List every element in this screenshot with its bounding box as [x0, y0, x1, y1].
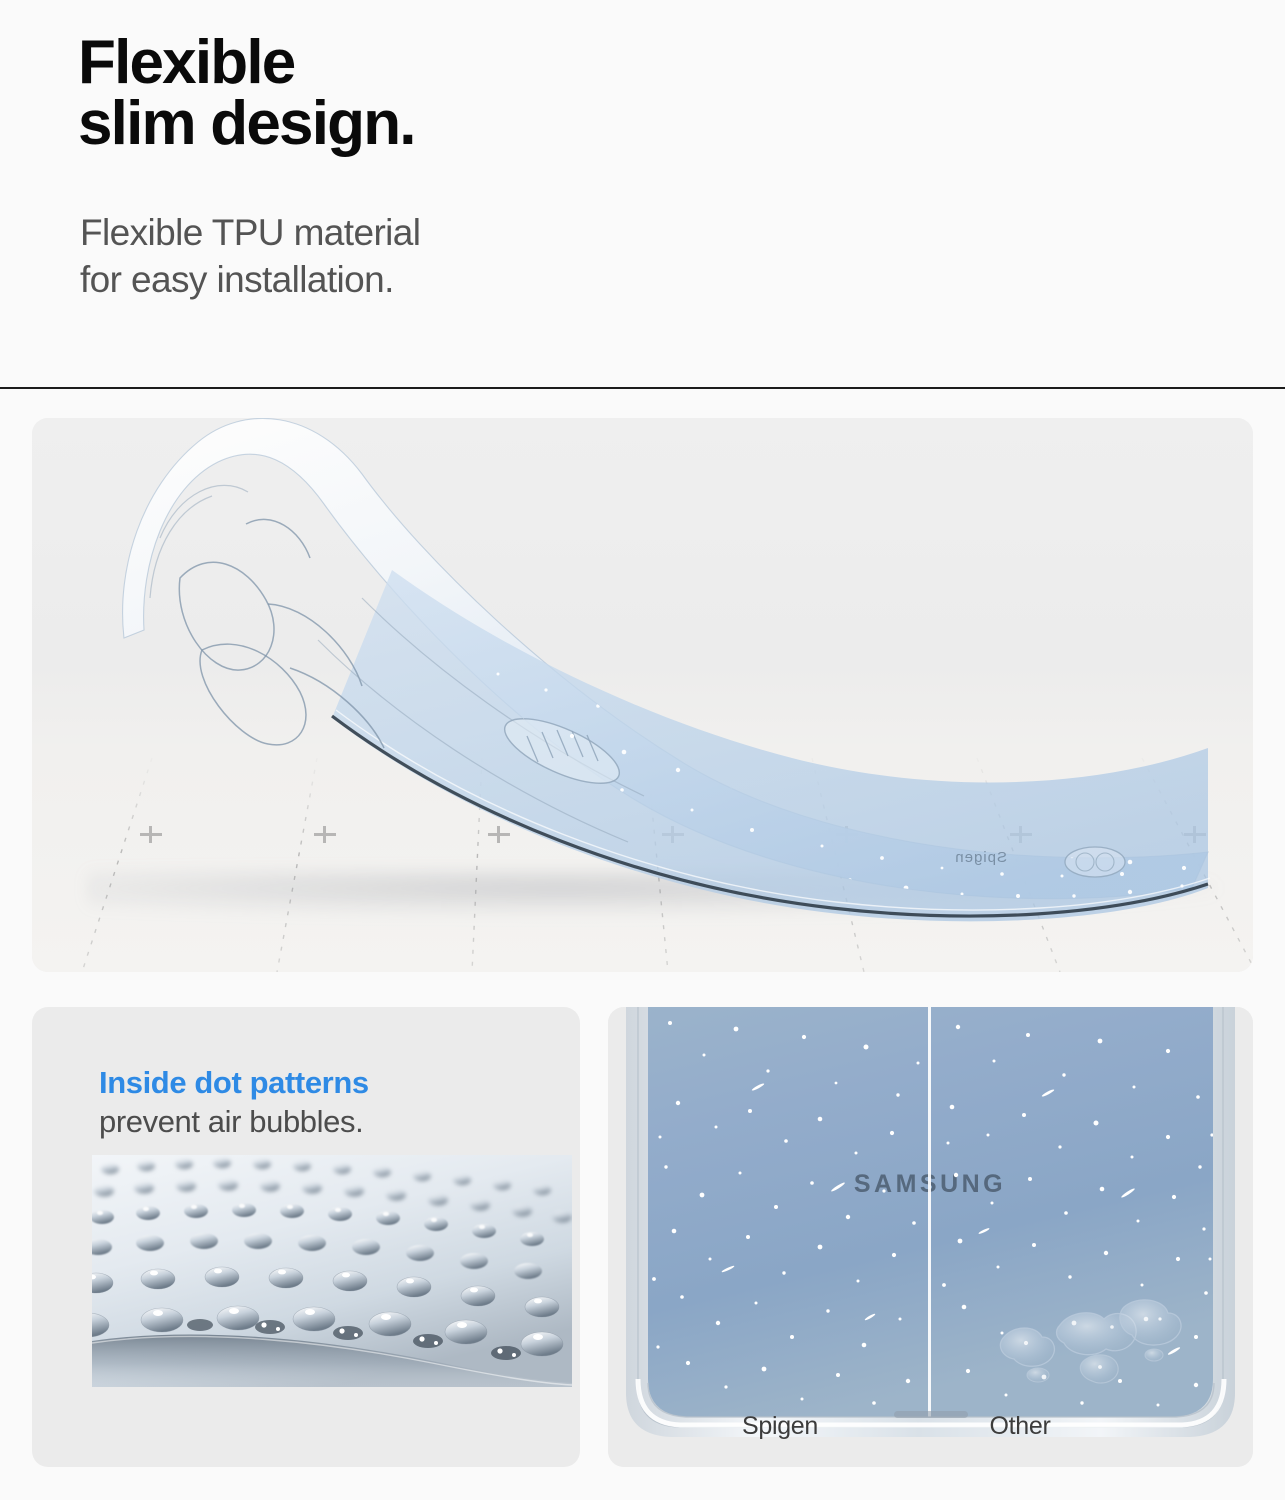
- comparison-image: SAMSUNG: [608, 1007, 1253, 1467]
- page-subtitle: Flexible TPU material for easy installat…: [80, 209, 420, 304]
- phone-drop-shadow: [87, 870, 1217, 916]
- dot-pattern-subtitle: prevent air bubbles.: [99, 1106, 363, 1137]
- perspective-grid: [32, 718, 1253, 972]
- dot-pattern-title: Inside dot patterns: [99, 1067, 369, 1098]
- header-section: Flexible slim design. Flexible TPU mater…: [0, 0, 1285, 389]
- compare-label-spigen: Spigen: [690, 1412, 870, 1441]
- comparison-panel: SAMSUNG: [608, 1007, 1253, 1467]
- product-feature-page: Flexible slim design. Flexible TPU mater…: [0, 0, 1285, 1500]
- dot-pattern-photo: [92, 1155, 572, 1387]
- device-back: SAMSUNG: [648, 1007, 1214, 1419]
- compare-label-other: Other: [930, 1412, 1110, 1441]
- hero-image-panel: Spigen: [32, 418, 1253, 972]
- dot-pattern-panel: Inside dot patterns prevent air bubbles.: [32, 1007, 580, 1467]
- comparison-divider: [928, 1007, 931, 1419]
- page-title: Flexible slim design.: [78, 33, 415, 155]
- section-divider: [0, 387, 1285, 389]
